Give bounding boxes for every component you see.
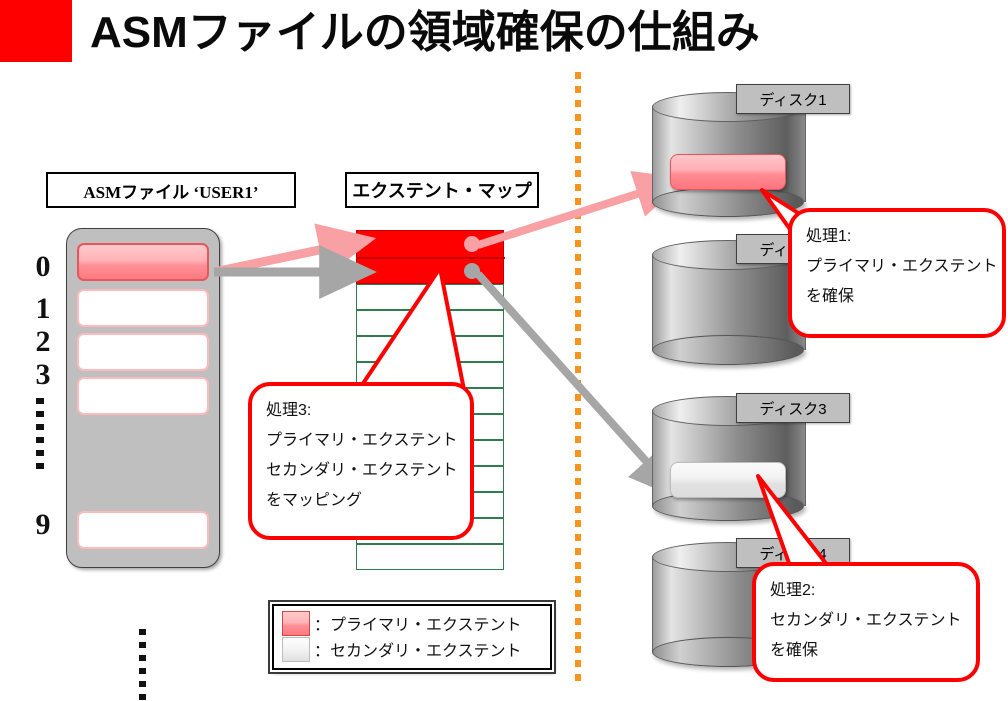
callout-1-line-2: プライマリ・エクステント [806,252,988,282]
callout-1-line-1: 処理1: [806,222,988,252]
extent-allocated-block[interactable] [356,230,504,284]
legend-secondary-label: ：セカンダリ・エクステント [314,637,522,661]
extent-cell[interactable] [356,336,504,362]
arrow-asm-to-extentmap-primary [214,244,348,272]
extent-map-caption: エクステント・マップ [345,172,539,208]
asm-slot-0[interactable] [77,243,209,281]
asm-slot-9[interactable] [77,511,209,549]
extent-cell[interactable] [356,310,504,336]
legend-primary-label: ：プライマリ・エクステント [314,611,522,635]
disk-bottom [652,335,804,365]
callout-3: 処理3: プライマリ・エクステント セカンダリ・エクステント をマッピング [248,382,474,540]
callout-2-line-2: セカンダリ・エクステント [770,606,962,636]
secondary-handle-icon [464,263,480,279]
callout-2-line-1: 処理2: [770,576,962,606]
asm-index-3: 3 [30,358,56,392]
asm-slot-3[interactable] [77,377,209,415]
extent-row-divider [357,257,505,259]
callout-3-line-1: 処理3: [266,396,456,426]
legend: ：プライマリ・エクステント ：セカンダリ・エクステント [272,604,552,670]
legend-row-primary: ：プライマリ・エクステント [282,610,522,636]
disk-bottom [652,187,804,217]
title-accent-block [0,0,72,62]
asm-slot-2[interactable] [77,333,209,371]
asm-slot-1[interactable] [77,289,209,327]
asm-index-1: 1 [30,292,56,326]
disk-3-secondary-extent[interactable] [670,462,786,498]
arrow-extentmap-to-disk3 [478,274,663,480]
callout-2-line-3: を確保 [770,636,962,666]
disk-1-primary-extent[interactable] [670,154,786,190]
asm-file-caption: ASMファイル ‘USER1’ [46,172,296,208]
callout-3-line-3: セカンダリ・エクステント [266,456,456,486]
callout-3-line-4: をマッピング [266,486,456,516]
callout-2: 処理2: セカンダリ・エクステント を確保 [752,562,980,682]
asm-file-container [66,228,220,568]
callout-3-line-2: プライマリ・エクステント [266,426,456,456]
asm-index-9: 9 [30,508,56,542]
vertical-dotted-divider [575,72,581,681]
legend-primary-swatch-icon [282,611,310,636]
asm-index-0: 0 [30,250,56,284]
extent-cell[interactable] [356,284,504,310]
callout-1-line-3: を確保 [806,282,988,312]
callout-1: 処理1: プライマリ・エクステント を確保 [788,208,1006,338]
disk-3-label: ディスク3 [736,393,850,423]
asm-ellipsis-left-icon [36,398,44,476]
page-title: ASMファイルの領域確保の仕組み [90,2,970,66]
legend-row-secondary: ：セカンダリ・エクステント [282,636,522,662]
asm-index-2: 2 [30,325,56,359]
asm-ellipsis-inner-icon [139,629,146,701]
extent-cell[interactable] [356,544,504,570]
legend-secondary-swatch-icon [282,637,310,662]
primary-handle-icon [464,236,480,252]
disk-1-label: ディスク1 [736,84,850,114]
